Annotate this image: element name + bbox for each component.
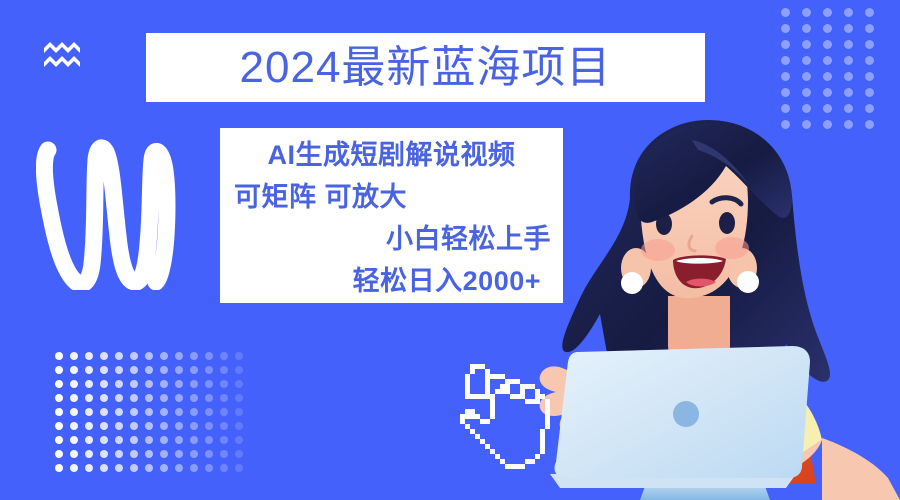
subtitle-line-1: AI生成短剧解说视频 [220, 134, 563, 176]
subtitle-line-4: 轻松日入2000+ [220, 260, 563, 302]
wave-lines-icon [44, 42, 80, 68]
brush-w-stroke [36, 132, 176, 290]
dot-grid-top-right [781, 8, 886, 136]
subtitle-card: AI生成短剧解说视频 可矩阵 可放大 小白轻松上手 轻松日入2000+ [220, 128, 563, 303]
subtitle-line-3: 小白轻松上手 [220, 218, 563, 260]
pointing-hand-cursor-icon [455, 358, 565, 480]
poster-canvas: 2024最新蓝海项目 AI生成短剧解说视频 可矩阵 可放大 小白轻松上手 轻松日… [0, 0, 900, 500]
subtitle-line-2: 可矩阵 可放大 [220, 176, 563, 218]
dot-grid-bottom-left [55, 352, 250, 478]
title-card: 2024最新蓝海项目 [146, 33, 705, 102]
page-title: 2024最新蓝海项目 [240, 46, 612, 90]
